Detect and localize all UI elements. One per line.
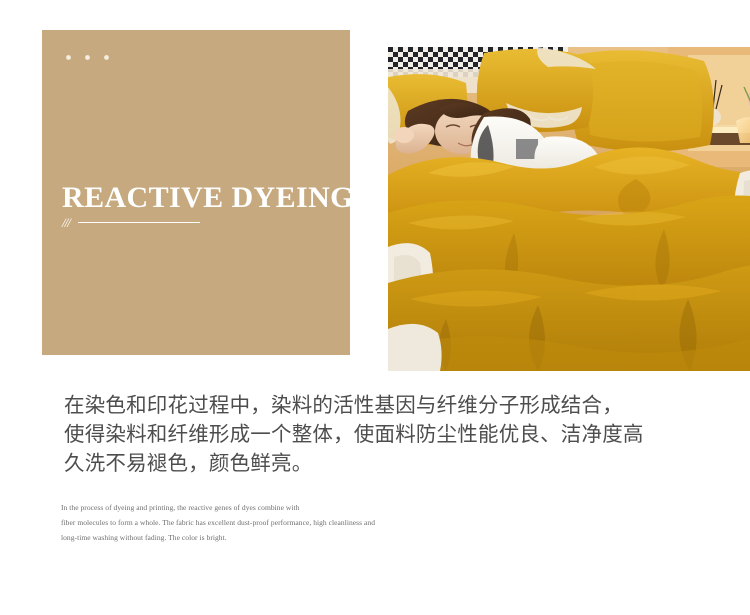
title-divider: ///: [62, 214, 292, 230]
page-title: REACTIVE DYEING: [62, 183, 362, 213]
dot-icon-3: [104, 55, 109, 60]
decorative-dots-group: [66, 55, 126, 65]
chinese-description: 在染色和印花过程中，染料的活性基因与纤维分子形成结合， 使得染料和纤维形成一个整…: [64, 391, 624, 478]
page-canvas: REACTIVE DYEING ///: [0, 0, 750, 615]
english-line-2: fiber molecules to form a whole. The fab…: [61, 515, 461, 530]
chinese-line-3: 久洗不易褪色，颜色鲜亮。: [64, 449, 624, 478]
dot-icon-1: [66, 55, 71, 60]
english-description: In the process of dyeing and printing, t…: [61, 500, 461, 545]
slash-marks-icon: ///: [62, 216, 70, 229]
english-line-1: In the process of dyeing and printing, t…: [61, 500, 461, 515]
dot-icon-2: [85, 55, 90, 60]
chinese-line-1: 在染色和印花过程中，染料的活性基因与纤维分子形成结合，: [64, 391, 624, 420]
hero-section: REACTIVE DYEING ///: [0, 0, 750, 358]
divider-line: [78, 222, 200, 223]
english-line-3: long-time washing without fading. The co…: [61, 530, 461, 545]
bedroom-photo-illustration: [388, 47, 750, 371]
chinese-line-2: 使得染料和纤维形成一个整体，使面料防尘性能优良、洁净度高: [64, 420, 624, 449]
hero-photo: [388, 47, 750, 371]
